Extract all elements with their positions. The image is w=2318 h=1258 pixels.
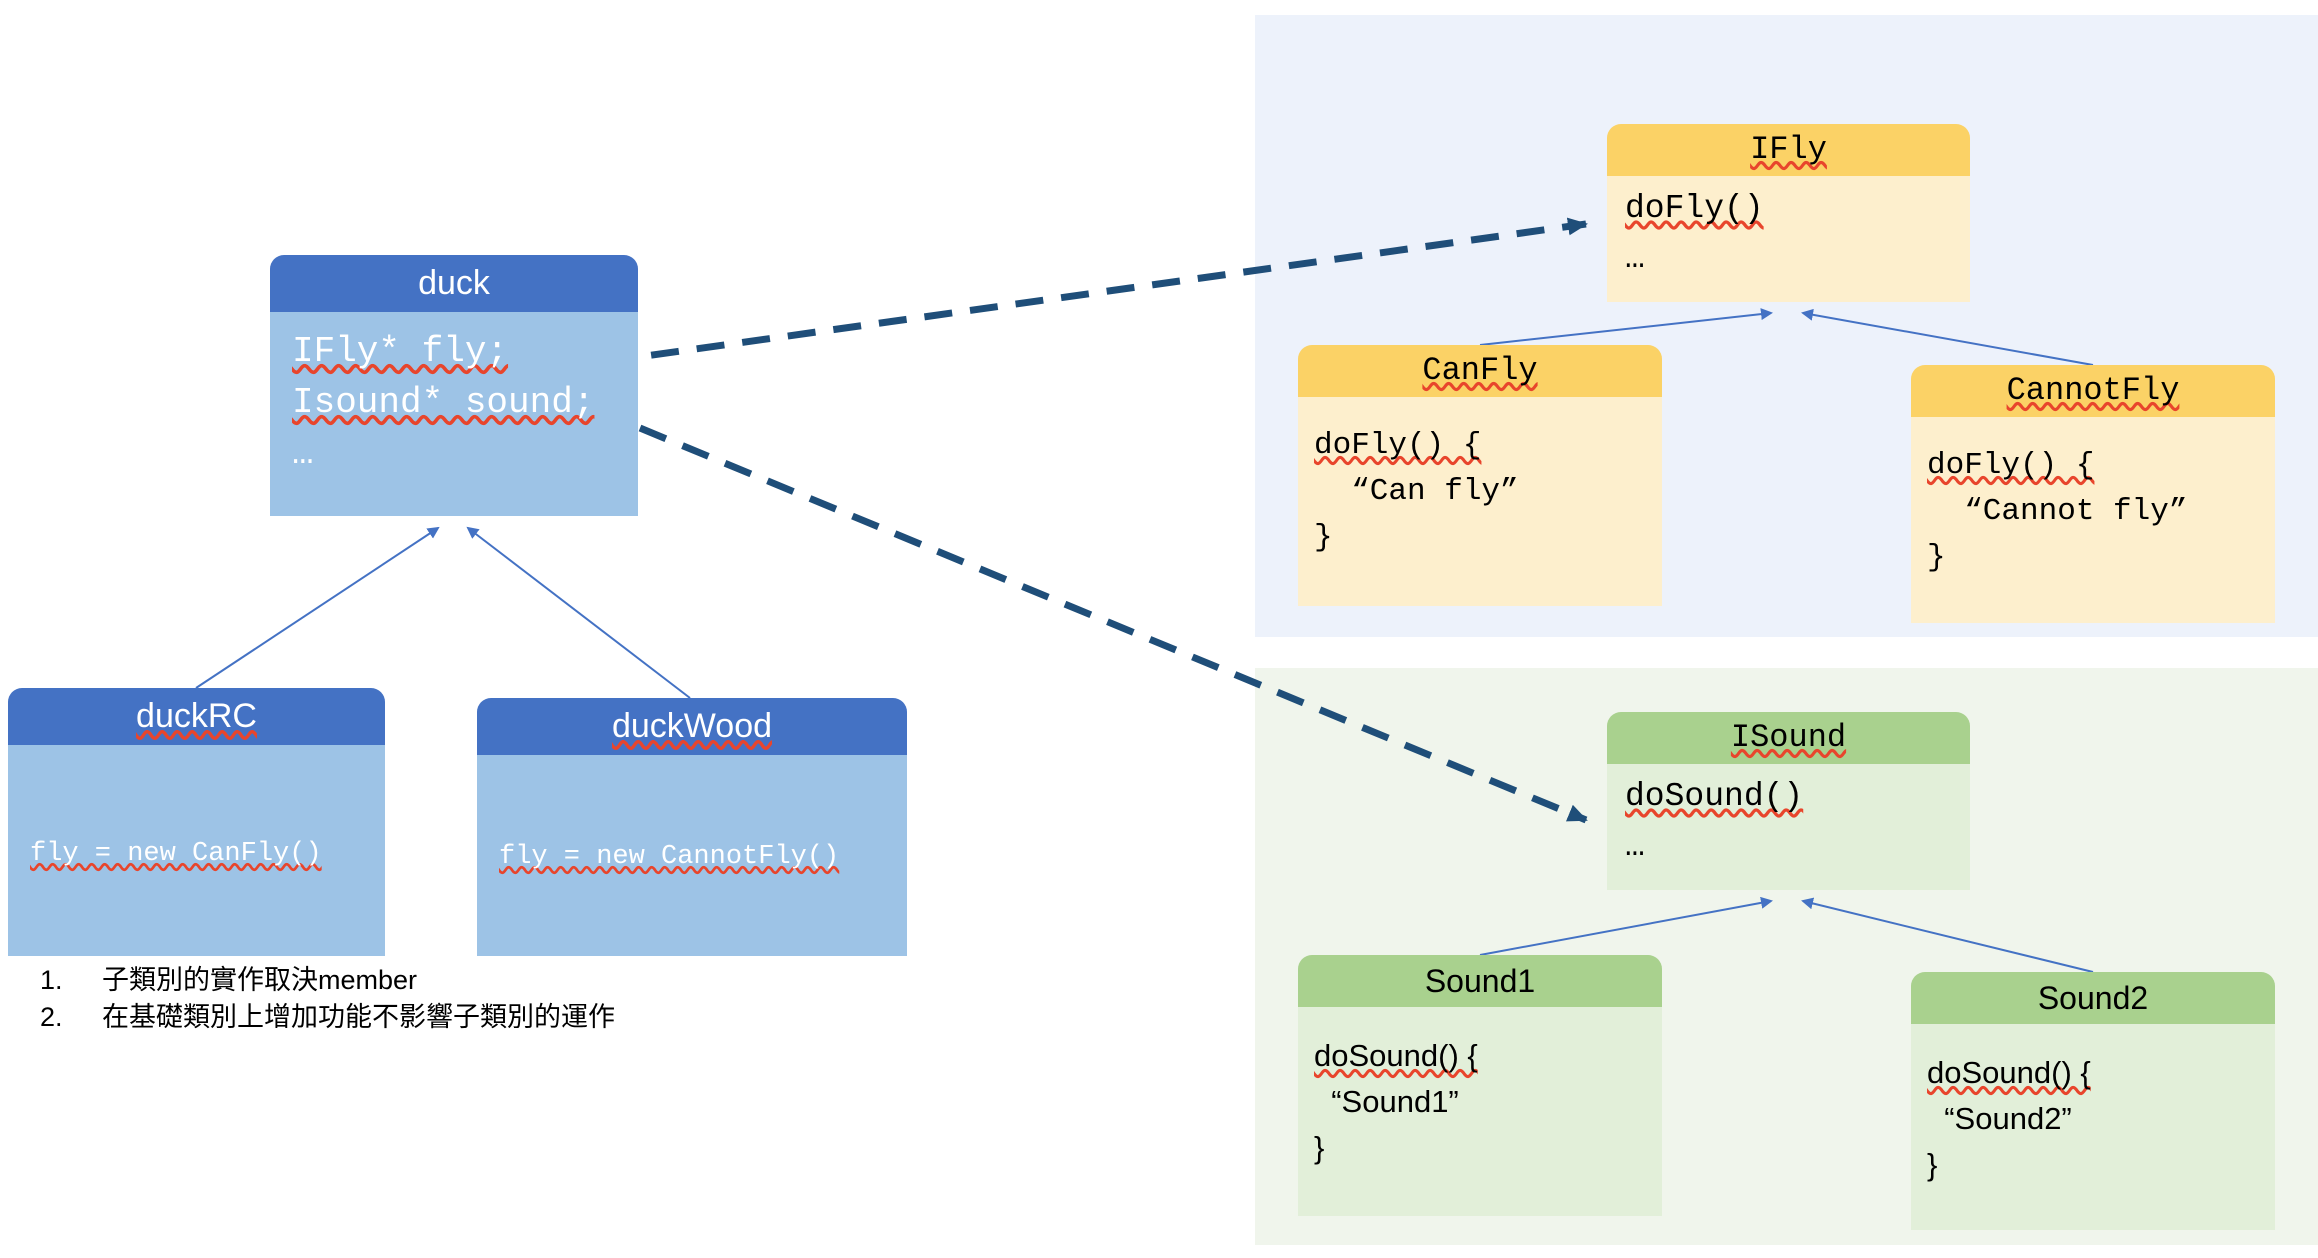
member-canfly-0: doFly() {: [1314, 428, 1481, 463]
list-item: 1. 子類別的實作取決member: [40, 962, 615, 999]
member-ifly-0: doFly(): [1625, 190, 1764, 227]
link-duckwood-to-duck: [468, 528, 690, 698]
class-title-ifly: IFly: [1607, 124, 1970, 176]
class-box-ifly[interactable]: IFly doFly()…: [1607, 124, 1970, 302]
note-text: 子類別的實作取決member: [102, 962, 417, 999]
member-duck-2: …: [292, 433, 314, 474]
class-title-duckrc: duckRC: [8, 688, 385, 745]
member-isound-1: …: [1625, 828, 1645, 865]
diagram-canvas: duck IFly* fly;Isound* sound;… duckRC fl…: [0, 0, 2318, 1258]
member-sound1-1: “Sound1”: [1314, 1084, 1459, 1119]
member-isound-0: doSound(): [1625, 778, 1803, 815]
member-canfly-1: “Can fly”: [1314, 474, 1519, 509]
class-box-canfly[interactable]: CanFly doFly() { “Can fly”}: [1298, 345, 1662, 606]
member-cannotfly-1: “Cannot fly”: [1927, 494, 2187, 529]
note-text: 在基礎類別上增加功能不影響子類別的運作: [102, 999, 615, 1036]
member-ifly-1: …: [1625, 240, 1645, 277]
member-sound2-0: doSound() {: [1927, 1055, 2091, 1090]
member-sound2-2: }: [1927, 1147, 1937, 1182]
class-members-duckwood: fly = new CannotFly(): [477, 755, 907, 956]
member-cannotfly-0: doFly() {: [1927, 448, 2094, 483]
notes-list: 1. 子類別的實作取決member 2. 在基礎類別上增加功能不影響子類別的運作: [40, 962, 615, 1036]
member-duck-1: Isound* sound;: [292, 382, 594, 423]
class-members-duck: IFly* fly;Isound* sound;…: [270, 312, 638, 516]
class-members-isound: doSound()…: [1607, 764, 1970, 890]
member-sound2-1: “Sound2”: [1927, 1101, 2072, 1136]
class-title-sound1: Sound1: [1298, 955, 1662, 1007]
class-title-sound2: Sound2: [1911, 972, 2275, 1024]
member-duck-0: IFly* fly;: [292, 331, 508, 372]
class-box-cannotfly[interactable]: CannotFly doFly() { “Cannot fly”}: [1911, 365, 2275, 623]
member-canfly-2: }: [1314, 520, 1333, 555]
member-sound1-2: }: [1314, 1130, 1324, 1165]
note-number: 2.: [40, 999, 102, 1036]
class-members-duckrc: fly = new CanFly(): [8, 745, 385, 956]
class-title-duck: duck: [270, 255, 638, 312]
class-members-sound1: doSound() { “Sound1”}: [1298, 1007, 1662, 1216]
class-box-duckwood[interactable]: duckWood fly = new CannotFly(): [477, 698, 907, 956]
member-duckwood-0: fly = new CannotFly(): [499, 842, 839, 872]
class-box-duck[interactable]: duck IFly* fly;Isound* sound;…: [270, 255, 638, 516]
class-box-isound[interactable]: ISound doSound()…: [1607, 712, 1970, 890]
class-box-duckrc[interactable]: duckRC fly = new CanFly(): [8, 688, 385, 956]
list-item: 2. 在基礎類別上增加功能不影響子類別的運作: [40, 999, 615, 1036]
note-number: 1.: [40, 962, 102, 999]
class-members-sound2: doSound() { “Sound2”}: [1911, 1024, 2275, 1230]
class-title-isound: ISound: [1607, 712, 1970, 764]
member-duckrc-0: fly = new CanFly(): [30, 839, 322, 869]
member-cannotfly-2: }: [1927, 540, 1946, 575]
class-box-sound2[interactable]: Sound2 doSound() { “Sound2”}: [1911, 972, 2275, 1230]
class-title-canfly: CanFly: [1298, 345, 1662, 397]
class-members-canfly: doFly() { “Can fly”}: [1298, 397, 1662, 606]
class-title-duckwood: duckWood: [477, 698, 907, 755]
link-duckrc-to-duck: [196, 528, 438, 688]
class-title-cannotfly: CannotFly: [1911, 365, 2275, 417]
class-members-ifly: doFly()…: [1607, 176, 1970, 302]
class-box-sound1[interactable]: Sound1 doSound() { “Sound1”}: [1298, 955, 1662, 1216]
member-sound1-0: doSound() {: [1314, 1038, 1478, 1073]
class-members-cannotfly: doFly() { “Cannot fly”}: [1911, 417, 2275, 623]
